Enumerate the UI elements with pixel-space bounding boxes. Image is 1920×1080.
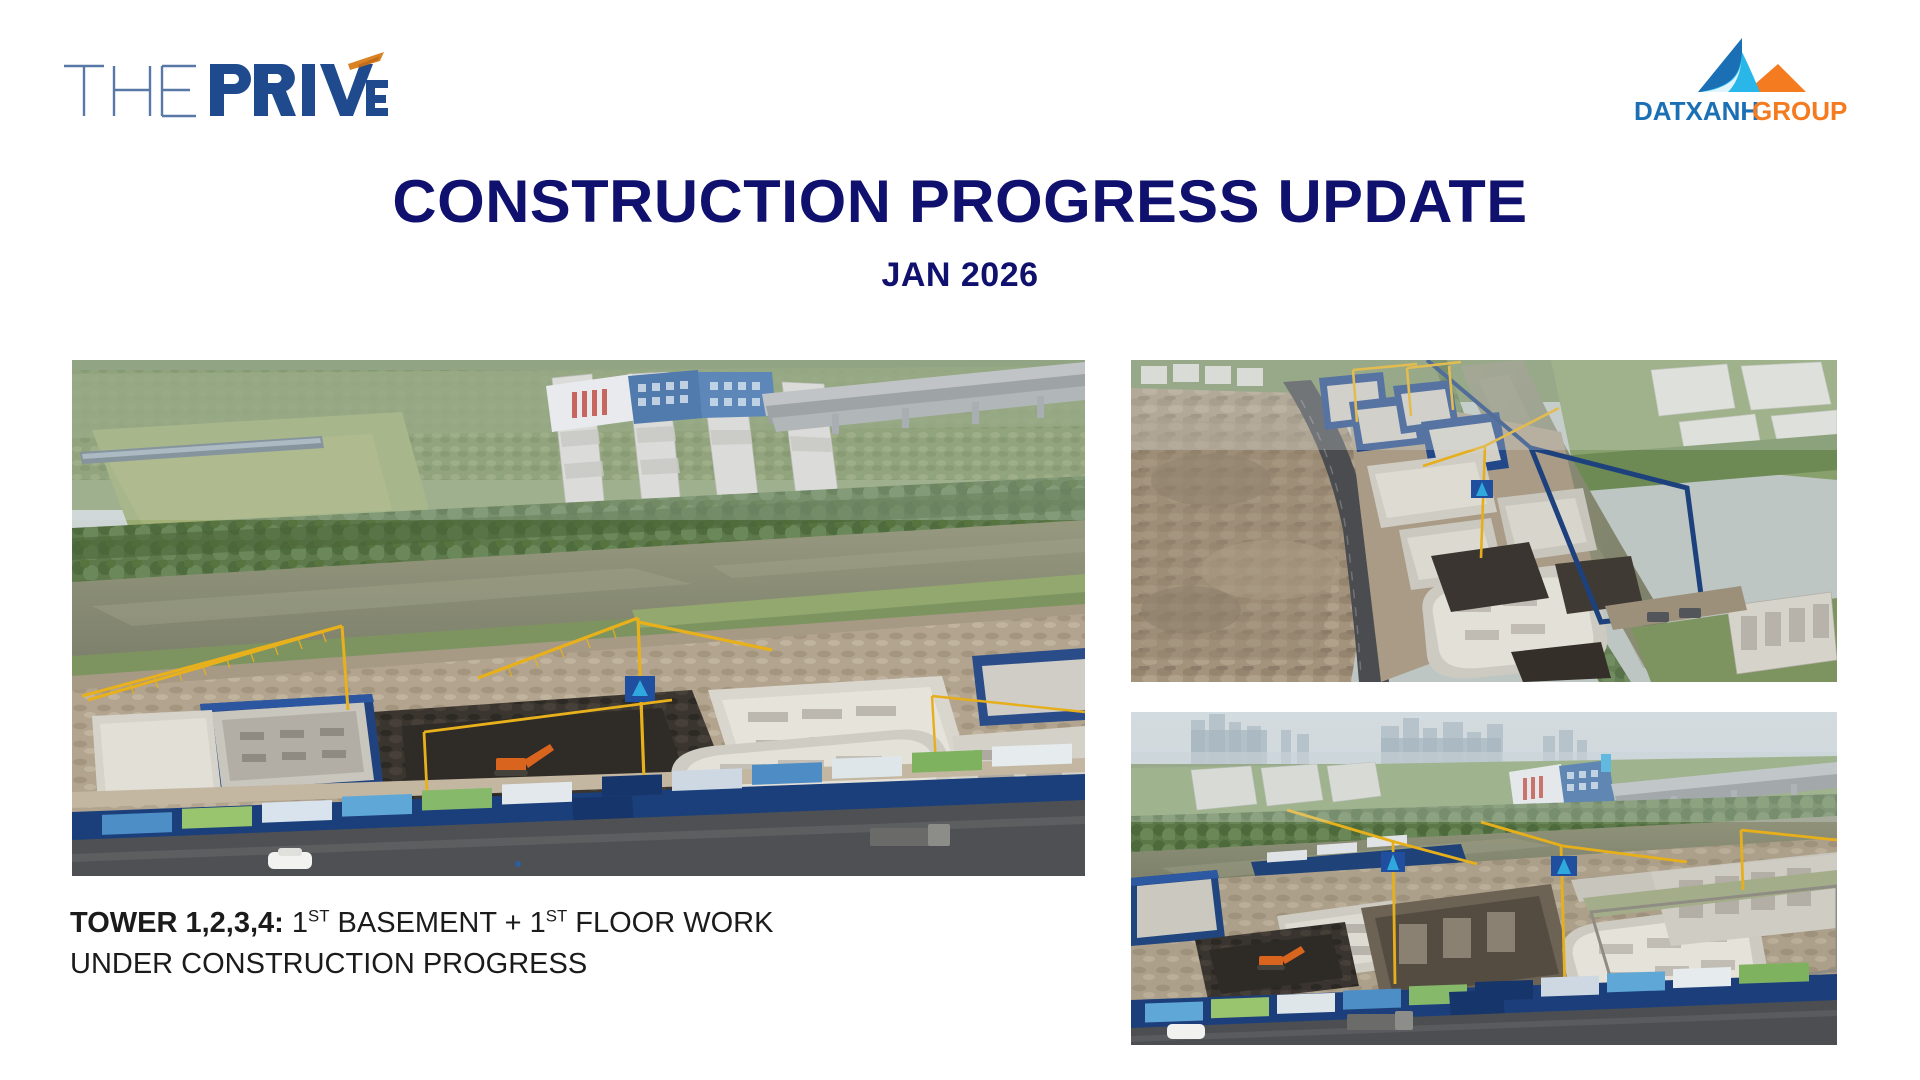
vehicle-car [1167, 1024, 1205, 1039]
company-logo-mark: DATXANH GROUP [1628, 34, 1856, 124]
caption-rest-2: BASEMENT + 1 [329, 907, 545, 939]
company-logo-text-secondary: GROUP [1752, 96, 1847, 124]
project-logo [58, 48, 388, 120]
caption-sup-2: ST [546, 906, 567, 925]
caption-rest-3: FLOOR WORK [567, 907, 773, 939]
caption-rest-1: 1 [284, 907, 308, 939]
page-subtitle: JAN 2026 [0, 258, 1920, 292]
caption-lead: TOWER 1,2,3,4: [70, 907, 284, 939]
company-logo: DATXANH GROUP [1628, 34, 1856, 124]
caption-block: TOWER 1,2,3,4: 1ST BASEMENT + 1ST FLOOR … [70, 903, 970, 985]
caption-line-2: UNDER CONSTRUCTION PROGRESS [70, 944, 970, 985]
photo-top-right-cleared-land [1131, 360, 1837, 682]
caption-sup-1: ST [308, 906, 329, 925]
photo-bottom-right-skyline-view [1131, 712, 1837, 1045]
photo-main-site-overview [72, 360, 1085, 876]
company-logo-text-primary: DATXANH [1634, 96, 1759, 124]
caption-line-1: TOWER 1,2,3,4: 1ST BASEMENT + 1ST FLOOR … [70, 903, 970, 944]
project-logo-mark [58, 48, 388, 120]
page-title: CONSTRUCTION PROGRESS UPDATE [0, 172, 1920, 232]
